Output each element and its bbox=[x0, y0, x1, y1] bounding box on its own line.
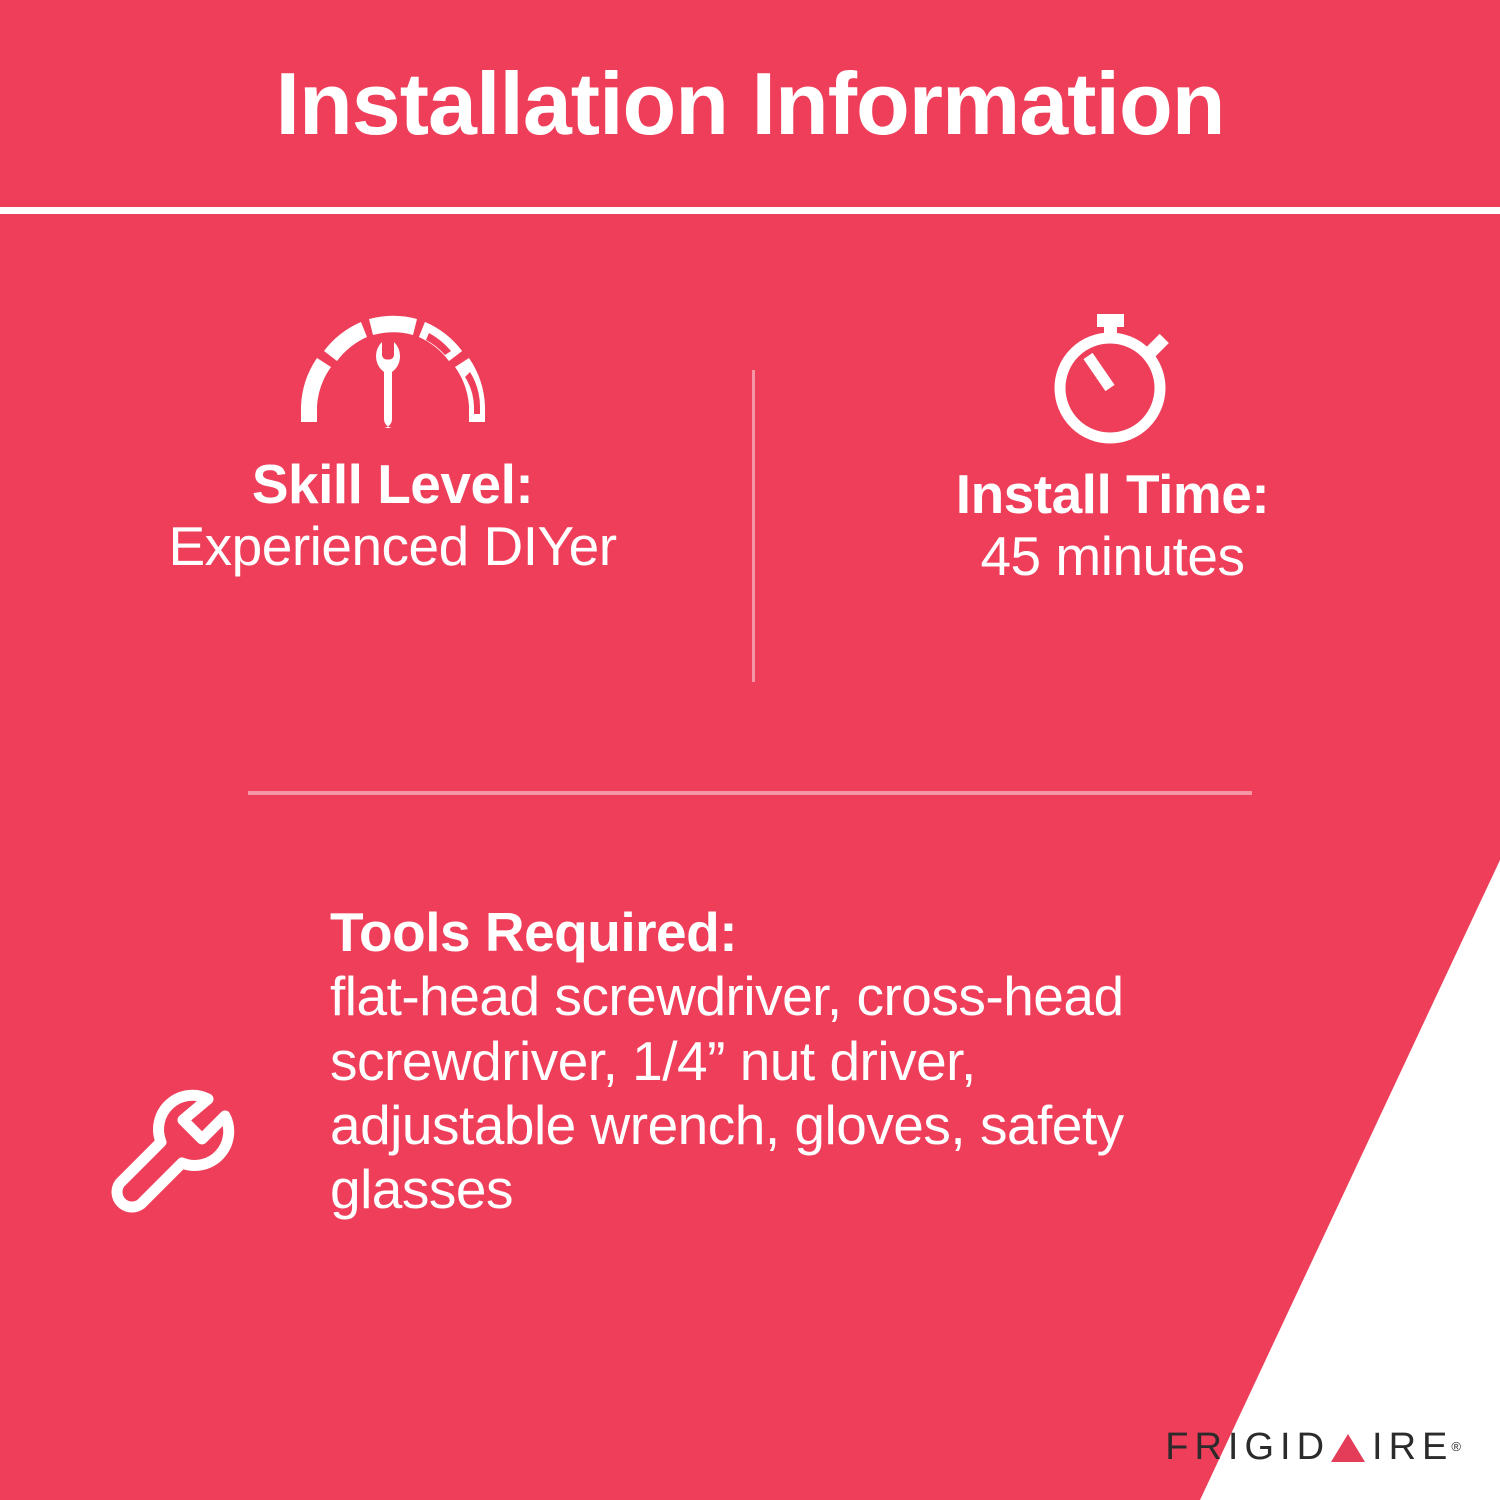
install-time-text: Install Time: 45 minutes bbox=[956, 464, 1269, 587]
skill-level-block: Skill Level: Experienced DIYer bbox=[100, 300, 685, 577]
logo-text-part1: FRIGID bbox=[1165, 1428, 1330, 1466]
wrench-icon bbox=[0, 900, 330, 1220]
frigidaire-wordmark: FRIGID IRE ® bbox=[1165, 1428, 1467, 1466]
tools-required-label: Tools Required: bbox=[330, 900, 1230, 964]
header-banner: Installation Information bbox=[0, 0, 1500, 207]
tools-required-block: Tools Required: flat-head screwdriver, c… bbox=[0, 900, 1500, 1222]
stopwatch-icon bbox=[1038, 300, 1188, 450]
install-time-value: 45 minutes bbox=[956, 526, 1269, 588]
gauge-wrench-icon bbox=[293, 300, 493, 430]
registered-trademark-icon: ® bbox=[1451, 1440, 1467, 1453]
page-title: Installation Information bbox=[276, 60, 1225, 148]
logo-triangle-icon bbox=[1331, 1434, 1365, 1462]
section-divider bbox=[248, 791, 1252, 795]
install-time-block: Install Time: 45 minutes bbox=[820, 300, 1405, 587]
column-divider bbox=[752, 370, 755, 682]
info-row: Skill Level: Experienced DIYer Install T… bbox=[0, 300, 1500, 720]
tools-required-text: Tools Required: flat-head screwdriver, c… bbox=[330, 900, 1230, 1222]
header-divider bbox=[0, 207, 1500, 214]
install-time-label: Install Time: bbox=[956, 464, 1269, 526]
skill-level-text: Skill Level: Experienced DIYer bbox=[168, 454, 616, 577]
tools-required-value: flat-head screwdriver, cross-head screwd… bbox=[330, 964, 1230, 1221]
installation-information-card: Installation Information bbox=[0, 0, 1500, 1500]
logo-text-part2: IRE bbox=[1372, 1428, 1453, 1466]
skill-level-label: Skill Level: bbox=[168, 454, 616, 516]
skill-level-value: Experienced DIYer bbox=[168, 516, 616, 578]
frigidaire-logo: FRIGID IRE ® bbox=[1165, 1428, 1467, 1466]
